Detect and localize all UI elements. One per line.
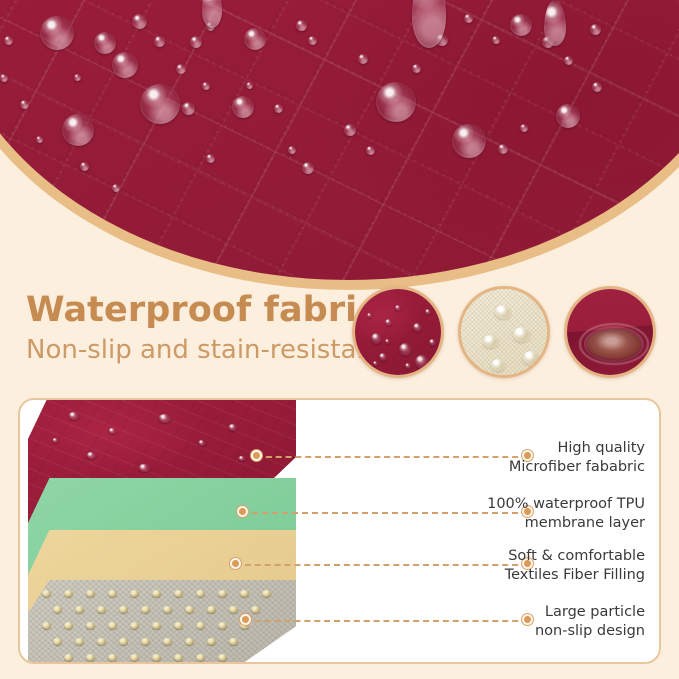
water-droplet <box>154 36 165 47</box>
water-droplet <box>36 136 43 143</box>
nonslip-nub <box>108 654 117 661</box>
product-feature-graphic: Waterproof fabric Non-slip and stain-res… <box>0 0 679 679</box>
nonslip-nub <box>218 622 227 629</box>
nonslip-nub <box>130 590 139 597</box>
callout-line-2: Microfiber fababric <box>455 458 645 477</box>
water-droplet <box>556 104 580 128</box>
water-droplet <box>86 452 97 459</box>
nonslip-nub <box>64 654 73 661</box>
water-droplet <box>238 456 246 461</box>
water-droplet <box>405 363 411 369</box>
water-droplet <box>425 309 431 315</box>
water-droplet <box>206 154 215 163</box>
nonslip-nub <box>141 638 150 645</box>
nonslip-nub <box>53 606 62 613</box>
nonslip-nub <box>174 654 183 661</box>
water-droplet <box>413 323 422 332</box>
nonslip-nub <box>229 606 238 613</box>
page-title: Waterproof fabric <box>26 292 366 330</box>
nonslip-nub <box>86 590 95 597</box>
cream-backing-inset <box>458 286 550 378</box>
nonslip-nub <box>152 654 161 661</box>
water-droplet <box>483 335 498 348</box>
water-droplet <box>433 357 439 363</box>
spill-resistant-inset <box>564 286 656 378</box>
water-droplet <box>52 438 59 443</box>
water-droplet <box>190 36 202 48</box>
water-droplet <box>246 82 253 89</box>
callout-membrane: 100% waterproof TPU membrane layer <box>455 495 645 532</box>
water-droplet <box>308 36 317 45</box>
water-droplet <box>198 440 206 446</box>
water-droplet <box>202 82 210 90</box>
callout-line-2: membrane layer <box>455 514 645 533</box>
cream-backing-inset-image <box>461 289 547 375</box>
water-droplet <box>40 16 74 50</box>
water-droplet <box>415 355 429 369</box>
water-droplet <box>158 414 172 423</box>
callout-microfiber: High quality Microfiber fababric <box>455 439 645 476</box>
water-droplet <box>20 100 29 109</box>
nonslip-nub <box>119 638 128 645</box>
water-beading-inset-image <box>355 289 441 375</box>
caption-block: Waterproof fabric Non-slip and stain-res… <box>26 292 366 366</box>
water-droplet <box>385 339 390 344</box>
water-droplet <box>492 36 500 44</box>
water-droplet <box>296 20 307 31</box>
callout-line-1: Soft & comfortable <box>455 547 645 566</box>
water-droplet <box>288 146 296 154</box>
nonslip-nub <box>251 606 260 613</box>
water-droplet <box>590 24 601 35</box>
water-droplet <box>385 319 392 326</box>
layer-diagram-panel: High quality Microfiber fababric 100% wa… <box>18 398 661 664</box>
callout-line-1: High quality <box>455 439 645 458</box>
nonslip-nub <box>108 622 117 629</box>
callout-label-group: High quality Microfiber fababric 100% wa… <box>455 400 645 664</box>
water-droplet <box>513 327 530 342</box>
nonslip-nub <box>174 590 183 597</box>
water-droplet <box>68 412 80 420</box>
connector-dot-start <box>240 614 251 625</box>
water-droplet <box>412 64 421 73</box>
nonslip-nub <box>218 654 227 661</box>
water-droplet <box>344 124 356 136</box>
water-droplet <box>274 104 283 113</box>
nonslip-nub <box>196 654 205 661</box>
water-droplet <box>523 351 539 365</box>
callout-filling: Soft & comfortable Textiles Fiber Fillin… <box>455 547 645 584</box>
nonslip-nub <box>130 654 139 661</box>
layer-nonslip-base <box>28 580 296 664</box>
water-droplet <box>452 124 486 158</box>
water-droplet <box>74 74 81 81</box>
water-droplet <box>140 84 180 124</box>
nonslip-nub <box>97 638 106 645</box>
liquid-spill <box>587 329 641 359</box>
water-droplet <box>366 146 375 155</box>
water-droplet <box>491 359 505 371</box>
water-droplet <box>94 32 116 54</box>
nonslip-nub <box>86 622 95 629</box>
nonslip-nub <box>262 590 271 597</box>
water-droplet <box>112 52 138 78</box>
callout-line-1: 100% waterproof TPU <box>455 495 645 514</box>
water-droplet <box>244 28 266 50</box>
nonslip-nub <box>64 622 73 629</box>
nonslip-nub <box>42 622 51 629</box>
water-droplet <box>138 464 151 472</box>
connector-dot-start <box>230 558 241 569</box>
nonslip-nub <box>42 590 51 597</box>
nonslip-nub <box>163 606 172 613</box>
water-droplet <box>376 82 416 122</box>
water-droplet <box>399 343 412 356</box>
water-droplet <box>0 74 8 82</box>
nonslip-nub <box>218 590 227 597</box>
nonslip-nub <box>240 590 249 597</box>
water-droplet <box>520 124 528 132</box>
nonslip-nub <box>207 638 216 645</box>
water-droplet <box>367 313 372 318</box>
water-droplet <box>495 305 511 319</box>
water-droplet <box>302 162 314 174</box>
nonslip-nub <box>152 622 161 629</box>
water-droplet <box>498 144 508 154</box>
nonslip-nub <box>75 606 84 613</box>
connector-dot-start <box>237 506 248 517</box>
water-droplet <box>373 361 378 366</box>
nonslip-nub <box>207 606 216 613</box>
water-droplet <box>429 339 436 346</box>
water-droplet <box>176 64 186 74</box>
water-droplet <box>395 305 401 311</box>
nonslip-nub <box>185 606 194 613</box>
water-beading-inset <box>352 286 444 378</box>
water-droplet <box>62 114 94 146</box>
nonslip-nub <box>86 654 95 661</box>
water-droplet <box>228 424 238 431</box>
nonslip-nub <box>196 590 205 597</box>
nonslip-nub <box>163 638 172 645</box>
water-droplet <box>4 36 13 45</box>
water-droplet <box>232 96 254 118</box>
nonslip-nub <box>174 622 183 629</box>
nonslip-nub <box>152 590 161 597</box>
water-droplet <box>80 162 89 171</box>
water-droplet <box>564 56 573 65</box>
water-droplet <box>371 333 382 344</box>
water-droplet <box>132 14 147 29</box>
hero-section <box>0 0 679 300</box>
nonslip-nub <box>130 622 139 629</box>
water-droplet <box>592 82 602 92</box>
exploded-layer-stack <box>20 400 320 664</box>
nonslip-nub <box>229 638 238 645</box>
connector-dot-start <box>251 450 262 461</box>
water-droplet <box>464 14 473 23</box>
water-droplet <box>108 428 117 434</box>
water-droplet <box>358 54 368 64</box>
callout-line-2: non-slip design <box>455 622 645 641</box>
callout-line-1: Large particle <box>455 603 645 622</box>
nonslip-nub <box>108 590 117 597</box>
nonslip-nub <box>75 638 84 645</box>
nonslip-nub <box>97 606 106 613</box>
nonslip-nub <box>196 622 205 629</box>
nonslip-nub <box>185 638 194 645</box>
spill-resistant-inset-image <box>567 289 653 375</box>
nonslip-nub <box>53 638 62 645</box>
water-droplet <box>510 14 532 36</box>
callout-line-2: Textiles Fiber Filling <box>455 566 645 585</box>
nonslip-nub <box>141 606 150 613</box>
water-droplet <box>182 102 195 115</box>
water-droplet <box>379 353 387 361</box>
nonslip-nub <box>64 590 73 597</box>
water-droplet <box>112 184 120 192</box>
hero-fabric-image <box>0 0 679 280</box>
callout-nonslip: Large particle non-slip design <box>455 603 645 640</box>
page-subtitle: Non-slip and stain-resistant <box>26 336 366 366</box>
nonslip-nub <box>119 606 128 613</box>
